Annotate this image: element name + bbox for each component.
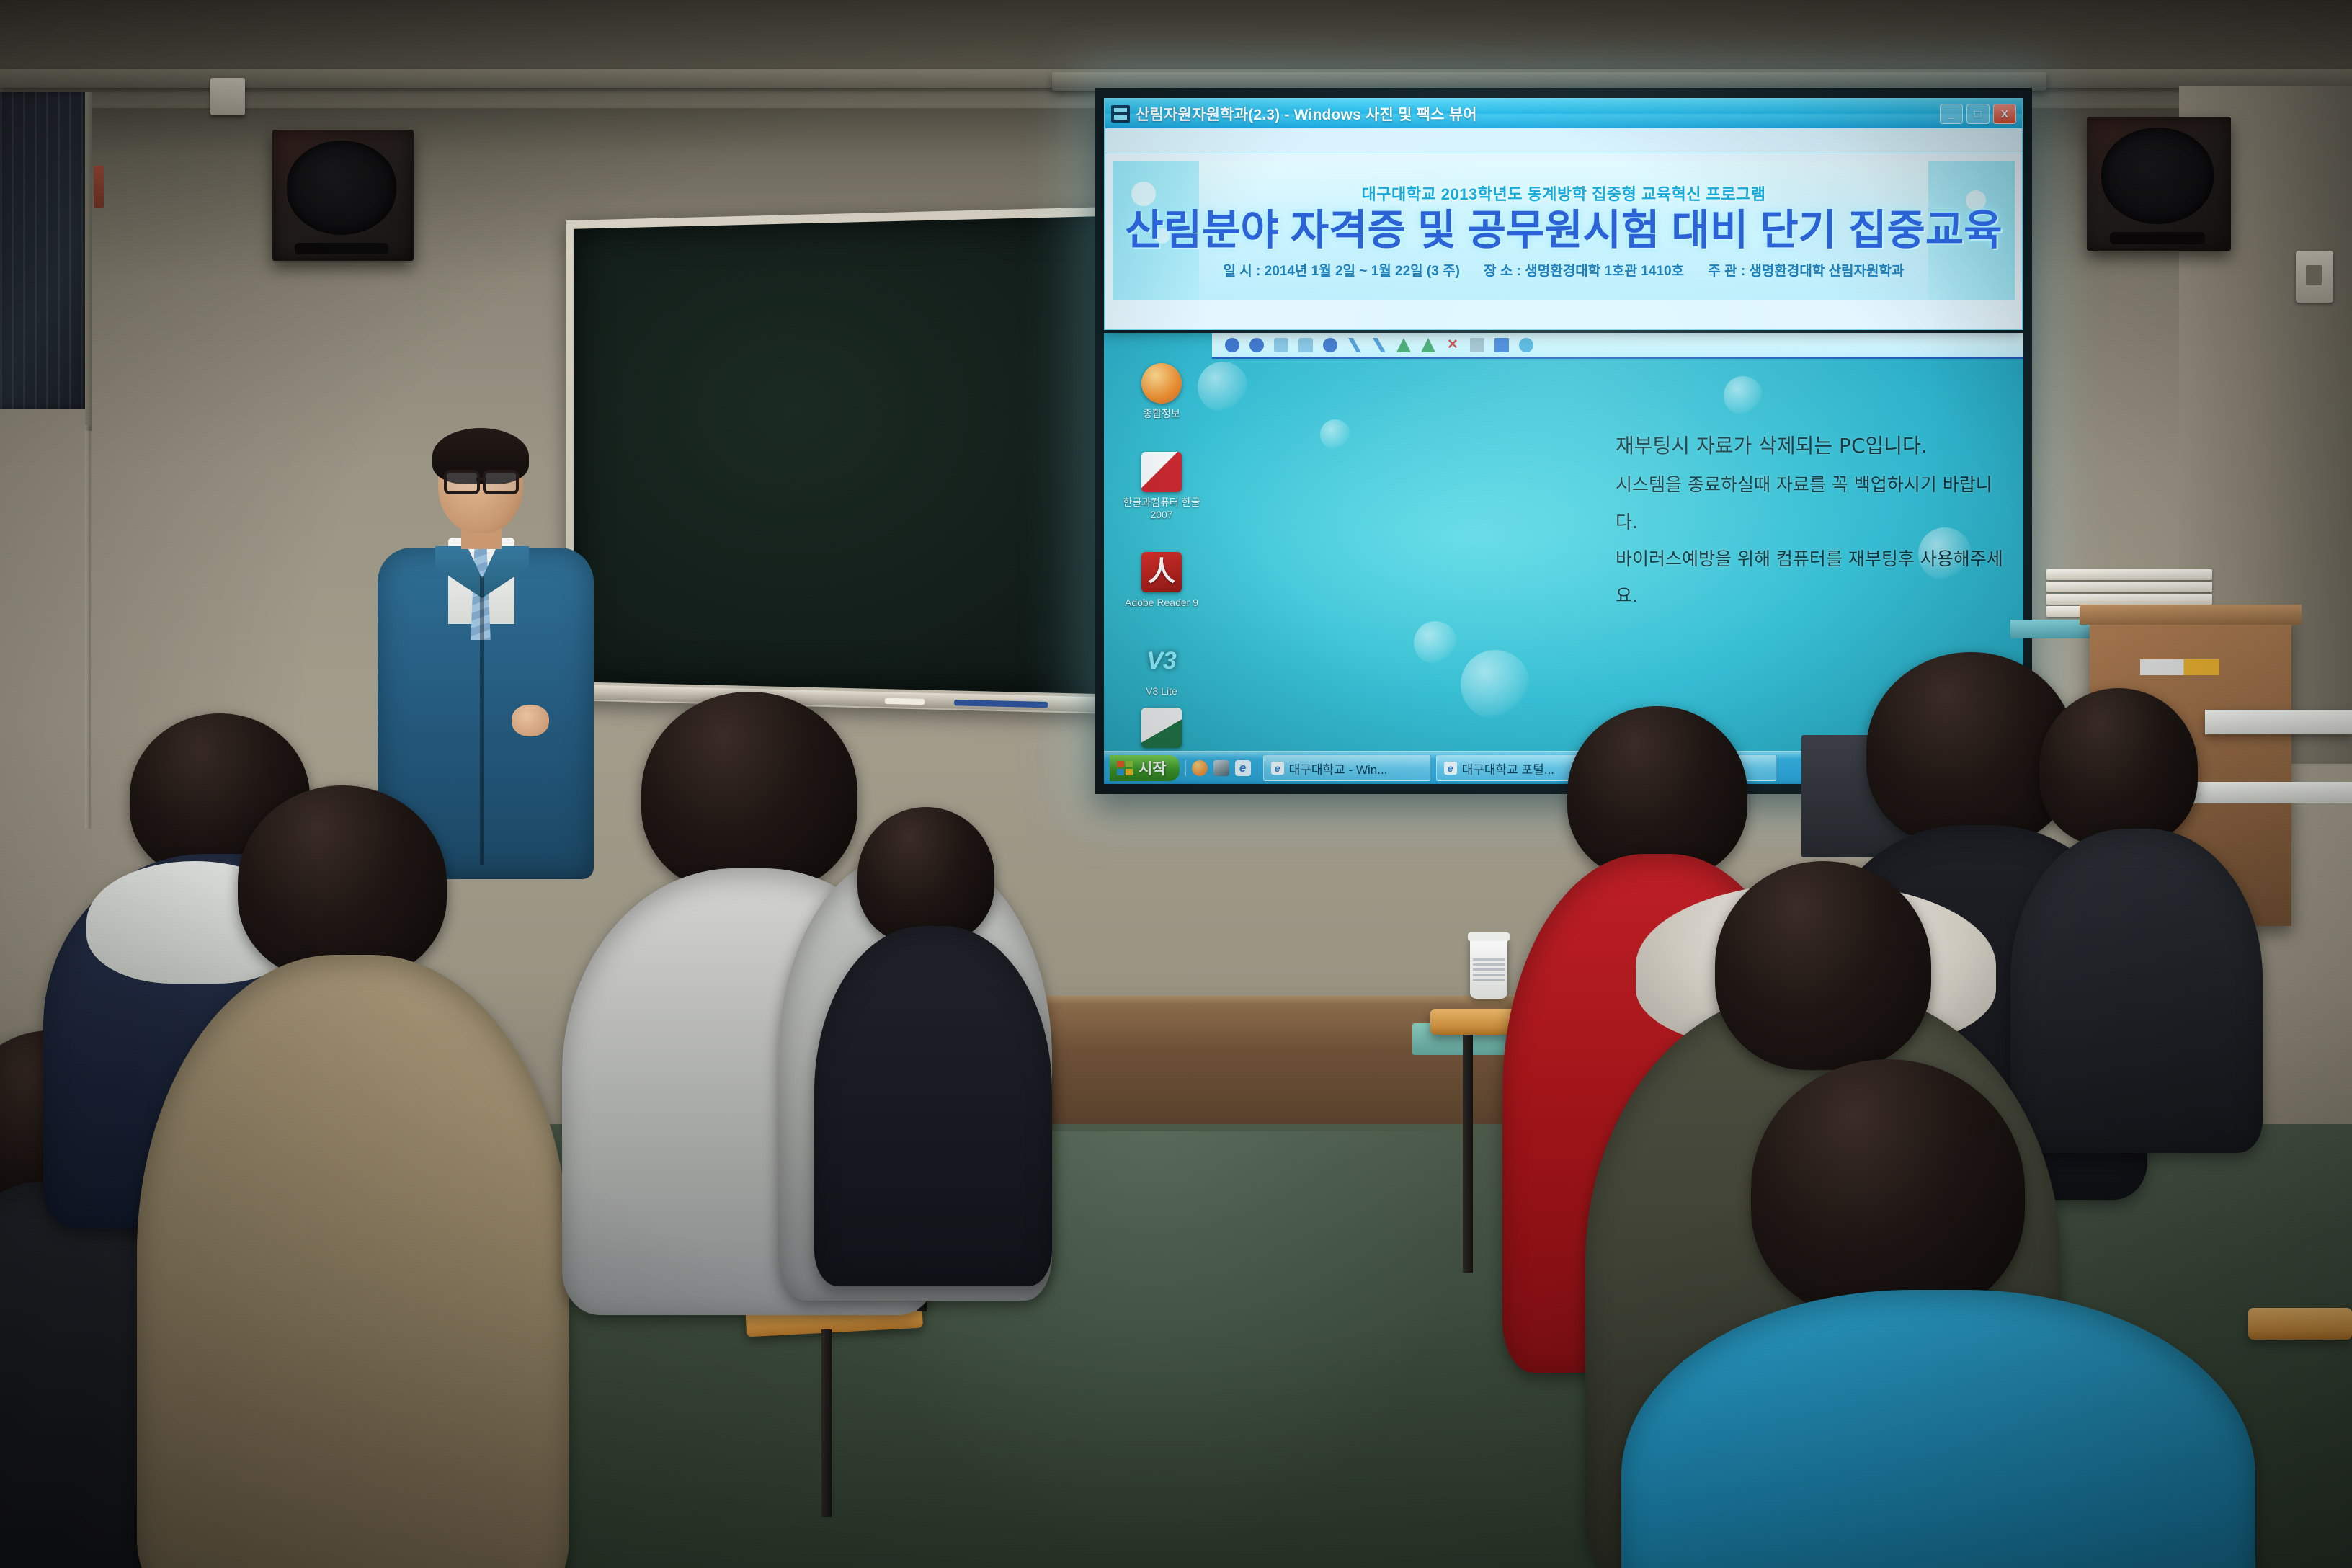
- reboot-notice: 재부팅시 자료가 삭제되는 PC입니다. 시스템을 종료하실때 자료를 꼭 백업…: [1616, 425, 2005, 614]
- lectern-top: [2080, 605, 2302, 625]
- panel-louvers: [0, 92, 89, 409]
- browser-icon[interactable]: [1192, 760, 1208, 776]
- wallpaper-bubble: [1461, 650, 1530, 719]
- left-wall-panel: [0, 92, 89, 409]
- hancom-icon: [1141, 452, 1182, 492]
- speaker-port: [2110, 232, 2205, 244]
- viewer-menu-strip: [1105, 128, 2022, 153]
- wall-speaker-right: [2087, 117, 2231, 251]
- wallpaper-bubble: [1414, 621, 1457, 664]
- student-torso: [814, 926, 1052, 1286]
- taskbar-window-button-1[interactable]: e 대구대학교 - Win...: [1263, 755, 1430, 781]
- fire-alarm-icon: [94, 166, 104, 208]
- zoom-in-icon[interactable]: [1323, 338, 1337, 352]
- close-button[interactable]: X: [1993, 104, 2016, 124]
- desktop-icon-label: V3 Lite: [1113, 685, 1211, 698]
- minimize-button[interactable]: _: [1940, 104, 1963, 124]
- taskbar-window-label: 대구대학교 - Win...: [1289, 759, 1388, 778]
- screenshot-root: ✕ 종합정보 한글과컴퓨터 한글 2007: [0, 0, 2352, 1568]
- speaker-port: [295, 243, 388, 254]
- taskbar-window-label: 대구대학교 포털...: [1462, 759, 1554, 778]
- student-hair: [641, 692, 857, 894]
- book: [2046, 594, 2212, 605]
- book: [2046, 582, 2212, 592]
- viewer-toolbar[interactable]: ✕: [1212, 333, 2023, 359]
- wall-speaker-left: [272, 130, 414, 261]
- picture-fax-viewer-icon: [1111, 105, 1130, 122]
- desktop-icon-column: 종합정보 한글과컴퓨터 한글 2007 Adobe Reader 9 V3 Li…: [1113, 363, 1211, 729]
- classroom-room: ✕ 종합정보 한글과컴퓨터 한글 2007: [0, 0, 2352, 1568]
- wall-outlet-icon: [2296, 251, 2333, 303]
- internet-explorer-icon[interactable]: e: [1235, 760, 1251, 776]
- v3-antivirus-icon: [1141, 641, 1182, 681]
- viewer-image-canvas[interactable]: 대구대학교 2013학년도 동계방학 집중형 교육혁신 프로그램 산림분야 자격…: [1113, 161, 2015, 300]
- notice-line-3: 바이러스예방을 위해 컴퓨터를 재부팅후 사용해주세요.: [1616, 540, 2005, 615]
- book: [2046, 569, 2212, 580]
- wallpaper-bubble: [1724, 376, 1763, 415]
- banner-title: 산림분야 자격증 및 공무원시험 대비 단기 집중교육: [1125, 209, 2002, 251]
- desktop-icon-acrobat[interactable]: Adobe Reader 9: [1113, 552, 1211, 609]
- cardigan-zipper: [480, 576, 484, 865]
- picture-fax-viewer-window[interactable]: 산림자원자원학과(2.3) - Windows 사진 및 팩스 뷰어 _ □ X: [1104, 98, 2023, 330]
- internet-explorer-icon: e: [1271, 762, 1284, 775]
- wallpaper-bubble: [1320, 419, 1350, 450]
- next-image-icon[interactable]: [1249, 338, 1264, 352]
- desktop-icon-label: 한글과컴퓨터 한글 2007: [1113, 496, 1211, 521]
- banner-details: 일 시 : 2014년 1월 2일 ~ 1월 22일 (3 주) 장 소 : 생…: [1213, 260, 1915, 280]
- windows-flag-icon: [1117, 761, 1133, 775]
- desk-leg: [821, 1329, 832, 1517]
- viewer-title-text: 산림자원자원학과(2.3) - Windows 사진 및 팩스 뷰어: [1136, 103, 1477, 125]
- white-table: [2205, 710, 2352, 734]
- banner-bubble: [1131, 182, 1156, 206]
- student-torso: [2010, 829, 2263, 1153]
- best-fit-icon[interactable]: [1274, 338, 1288, 352]
- banner-detail-date: 일 시 : 2014년 1월 2일 ~ 1월 22일 (3 주): [1224, 264, 1460, 279]
- acrobat-reader-icon: [1141, 552, 1182, 592]
- desktop-icon-v3[interactable]: V3 Lite: [1113, 641, 1211, 698]
- save-as-icon[interactable]: [1494, 338, 1509, 352]
- desktop-icon-portal[interactable]: 종합정보: [1113, 363, 1211, 420]
- help-icon[interactable]: [1519, 338, 1533, 352]
- start-button-label: 시작: [1139, 757, 1167, 779]
- student-hair: [1751, 1059, 2025, 1319]
- ceiling-sensor-icon: [210, 78, 245, 115]
- print-icon[interactable]: [1470, 338, 1484, 352]
- delete-icon[interactable]: ✕: [1445, 338, 1460, 352]
- student-hair: [238, 785, 447, 980]
- speaker-cone: [287, 141, 397, 235]
- quick-launch-bar[interactable]: e: [1185, 760, 1257, 776]
- student-hair: [2039, 688, 2198, 847]
- excel-icon: [1141, 708, 1182, 748]
- previous-image-icon[interactable]: [1225, 338, 1239, 352]
- actual-size-icon[interactable]: [1298, 338, 1313, 352]
- start-button[interactable]: 시작: [1110, 755, 1180, 781]
- left-wall-edge: [85, 92, 92, 431]
- rotate-counterclockwise-icon[interactable]: [1396, 338, 1411, 352]
- notice-line-2: 시스템을 종료하실때 자료를 꼭 백업하시기 바랍니다.: [1616, 466, 2005, 540]
- zoom-out-icon[interactable]: [1347, 338, 1362, 352]
- rotate-clockwise-icon[interactable]: [1372, 338, 1386, 352]
- annotate-icon[interactable]: [1421, 338, 1435, 352]
- green-chalkboard: [566, 206, 1144, 715]
- portal-icon: [1141, 363, 1182, 404]
- desk-leg: [1463, 1035, 1473, 1273]
- viewer-titlebar[interactable]: 산림자원자원학과(2.3) - Windows 사진 및 팩스 뷰어 _ □ X: [1105, 99, 2022, 128]
- cup-lid: [1468, 932, 1510, 941]
- student-desk-far-right: [2248, 1308, 2352, 1340]
- desktop-icon-hancom[interactable]: 한글과컴퓨터 한글 2007: [1113, 452, 1211, 521]
- window-controls[interactable]: _ □ X: [1940, 104, 2016, 124]
- desktop-icon-label: Adobe Reader 9: [1113, 597, 1211, 609]
- student-hair: [1567, 706, 1747, 879]
- student-torso: [137, 955, 569, 1568]
- desktop-icon-label: 종합정보: [1113, 408, 1211, 420]
- banner-detail-host: 주 관 : 생명환경대학 산림자원학과: [1708, 264, 1904, 279]
- chalkboard-surface: [574, 215, 1136, 695]
- lectern-label: [2140, 659, 2219, 675]
- student-hair: [1715, 861, 1931, 1070]
- program-banner-image: 대구대학교 2013학년도 동계방학 집중형 교육혁신 프로그램 산림분야 자격…: [1113, 161, 2015, 300]
- media-player-icon[interactable]: [1213, 760, 1229, 776]
- wall-corner: [85, 425, 91, 829]
- paper-cup: [1470, 937, 1507, 999]
- banner-subtitle: 대구대학교 2013학년도 동계방학 집중형 교육혁신 프로그램: [1361, 182, 1765, 205]
- banner-detail-place: 장 소 : 생명환경대학 1호관 1410호: [1484, 264, 1684, 279]
- white-chalk: [885, 698, 925, 705]
- instructor-hand-right: [512, 705, 549, 736]
- student-hair: [857, 807, 994, 944]
- eyeglasses-icon: [444, 470, 519, 489]
- notice-line-1: 재부팅시 자료가 삭제되는 PC입니다.: [1616, 425, 2005, 466]
- speaker-cone: [2101, 128, 2214, 224]
- internet-explorer-icon: e: [1444, 762, 1457, 775]
- maximize-button[interactable]: □: [1966, 104, 1990, 124]
